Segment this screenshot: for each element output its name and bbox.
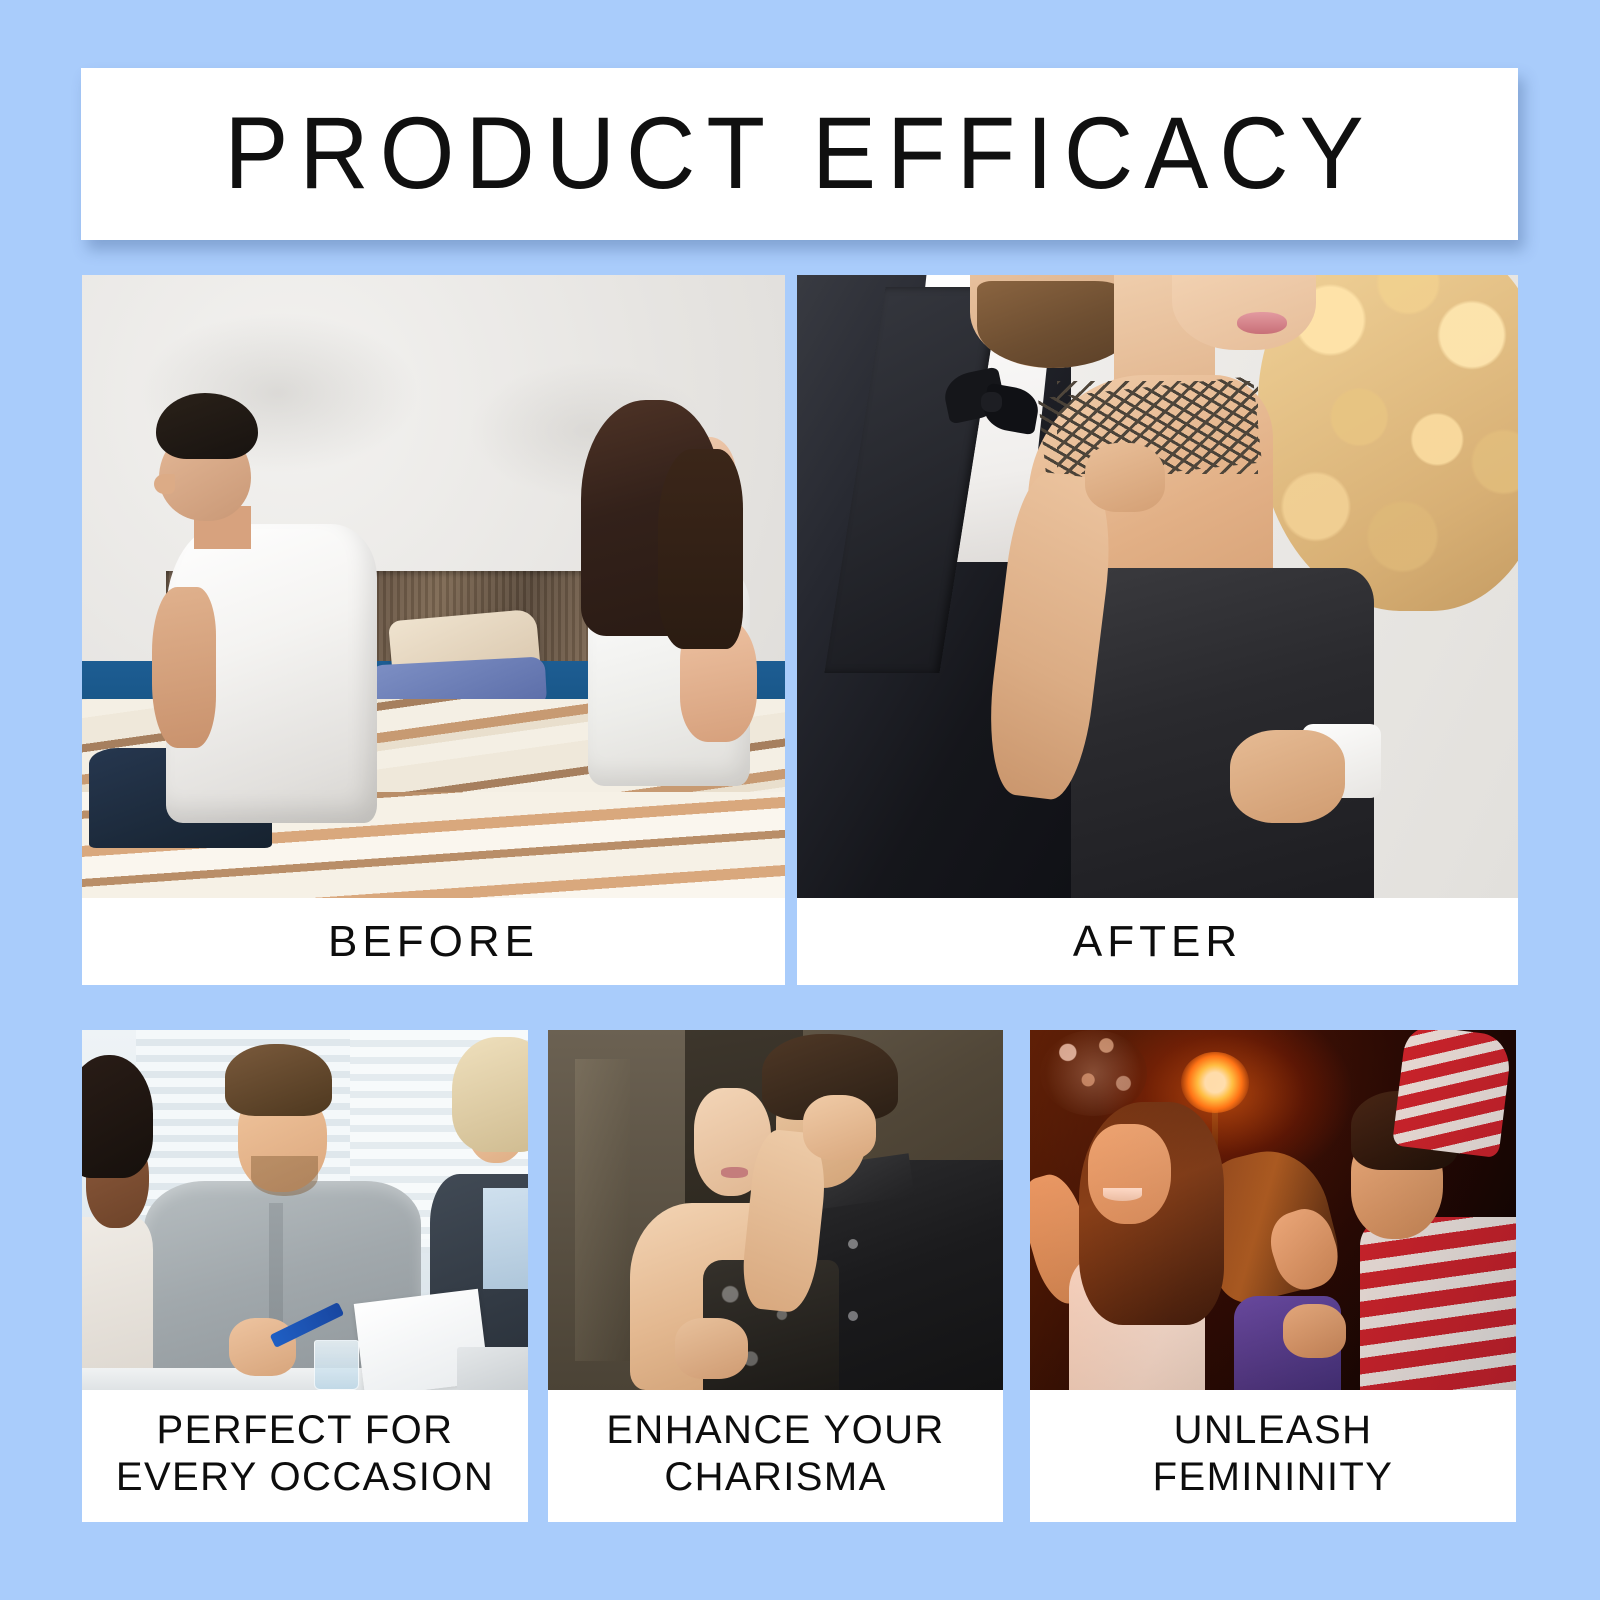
card-before: BEFORE	[82, 275, 785, 985]
caption-band-before: BEFORE	[82, 898, 785, 985]
title-banner: PRODUCT EFFICACY	[81, 68, 1518, 240]
card-perfect-for-every-occasion: PERFECT FOR EVERY OCCASION	[82, 1030, 528, 1522]
scene-couple-embracing-formal	[797, 275, 1518, 898]
photo-business-meeting	[82, 1030, 528, 1390]
photo-romantic-couple	[548, 1030, 1003, 1390]
page-title: PRODUCT EFFICACY	[224, 103, 1374, 205]
caption-band-after: AFTER	[797, 898, 1518, 985]
scene-romantic-couple	[548, 1030, 1003, 1390]
caption-band-occasion: PERFECT FOR EVERY OCCASION	[82, 1390, 528, 1522]
scene-unhappy-couple	[82, 275, 785, 898]
caption-femininity: UNLEASH FEMININITY	[1153, 1407, 1394, 1505]
photo-after	[797, 275, 1518, 898]
caption-occasion: PERFECT FOR EVERY OCCASION	[116, 1407, 494, 1505]
scene-nightclub-dancing	[1030, 1030, 1516, 1390]
card-after: AFTER	[797, 275, 1518, 985]
photo-before	[82, 275, 785, 898]
caption-after: AFTER	[1073, 916, 1242, 968]
caption-charisma: ENHANCE YOUR CHARISMA	[606, 1407, 944, 1505]
caption-before: BEFORE	[328, 916, 539, 968]
photo-nightclub-dancing	[1030, 1030, 1516, 1390]
card-enhance-your-charisma: ENHANCE YOUR CHARISMA	[548, 1030, 1003, 1522]
scene-business-meeting	[82, 1030, 528, 1390]
caption-band-charisma: ENHANCE YOUR CHARISMA	[548, 1390, 1003, 1522]
card-unleash-femininity: UNLEASH FEMININITY	[1030, 1030, 1516, 1522]
caption-band-femininity: UNLEASH FEMININITY	[1030, 1390, 1516, 1522]
